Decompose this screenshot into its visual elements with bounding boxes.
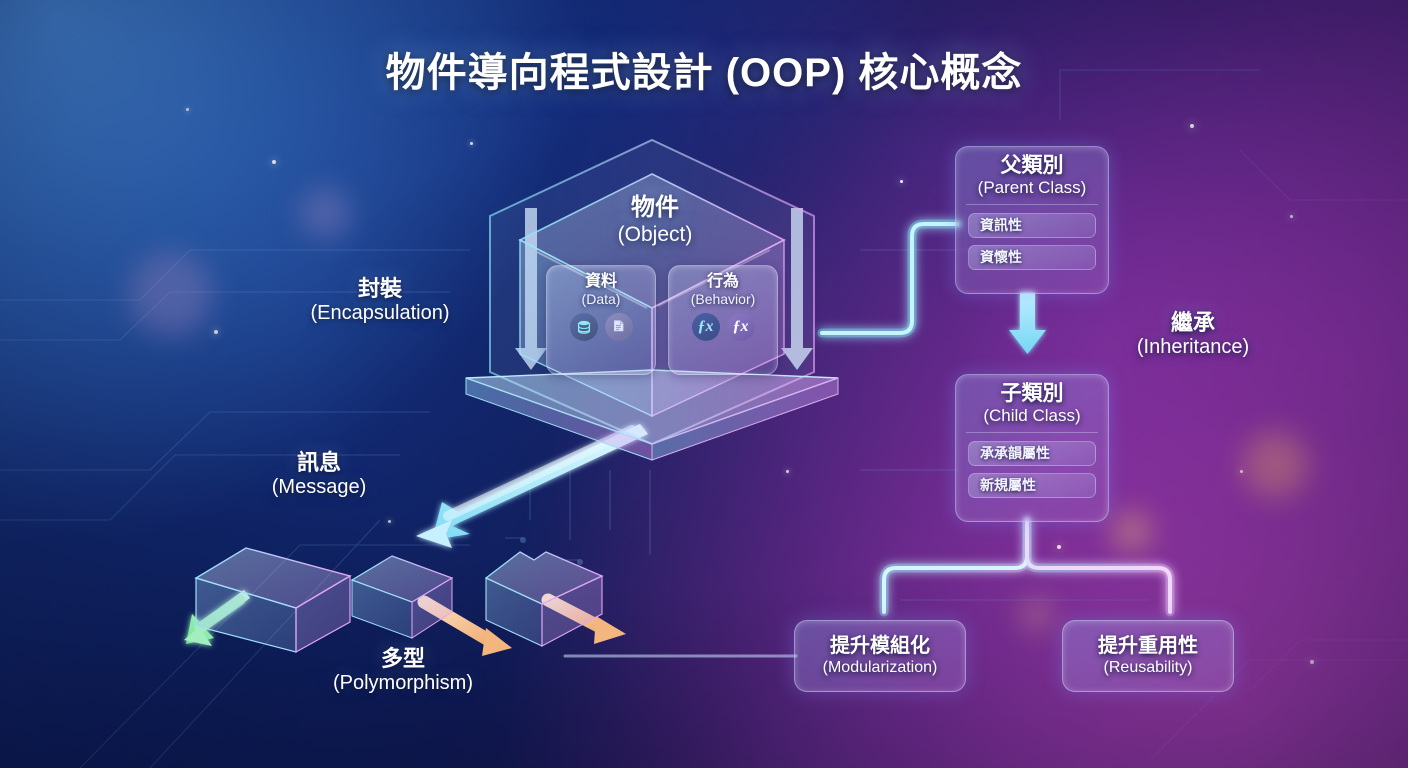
polymorphism-label: 多型 (Polymorphism) (300, 646, 506, 696)
parent-class-attribute-list: 資訊性 資懷性 (956, 205, 1108, 280)
inheritance-label-en: (Inheritance) (1108, 335, 1278, 359)
parent-class-header: 父類別 (Parent Class) (956, 147, 1108, 204)
fx-glyph: ƒx (733, 318, 749, 336)
object-node-title: 物件 (Object) (470, 194, 840, 247)
cube-base-slab (462, 360, 842, 470)
parent-class-card[interactable]: 父類別 (Parent Class) 資訊性 資懷性 (955, 146, 1109, 294)
behavior-panel-label-cn: 行為 (707, 273, 739, 291)
object-title-cn: 物件 (470, 194, 840, 222)
behavior-icon-group: ƒx ƒx (692, 313, 755, 341)
message-label: 訊息 (Message) (238, 450, 400, 500)
object-inner-panels: 資料 (Data) (546, 265, 778, 375)
encapsulation-label-en: (Encapsulation) (272, 301, 488, 325)
child-class-attribute-list: 承承韻屬性 新規屬性 (956, 433, 1108, 508)
infographic-canvas: 物件導向程式設計 (OOP) 核心概念 (0, 0, 1408, 768)
inheritance-label-cn: 繼承 (1108, 310, 1278, 335)
attribute-pill[interactable]: 新規屬性 (968, 473, 1096, 498)
polymorphism-label-cn: 多型 (300, 646, 506, 671)
child-class-header: 子類別 (Child Class) (956, 375, 1108, 432)
data-panel-label-en: (Data) (582, 291, 621, 308)
parent-class-title-cn: 父類別 (956, 154, 1108, 178)
page-title: 物件導向程式設計 (OOP) 核心概念 (0, 40, 1408, 98)
attribute-pill[interactable]: 資訊性 (968, 213, 1096, 238)
benefit-modularization-card[interactable]: 提升模組化 (Modularization) (794, 620, 966, 692)
child-class-card[interactable]: 子類別 (Child Class) 承承韻屬性 新規屬性 (955, 374, 1109, 522)
child-class-title-en: (Child Class) (956, 406, 1108, 426)
message-label-en: (Message) (238, 475, 400, 499)
data-icon-group (570, 313, 633, 341)
benefit-reusability-en: (Reusability) (1104, 658, 1193, 678)
document-icon (605, 313, 633, 341)
child-class-title-cn: 子類別 (956, 382, 1108, 406)
benefit-reusability-card[interactable]: 提升重用性 (Reusability) (1062, 620, 1234, 692)
inheritance-label: 繼承 (Inheritance) (1108, 310, 1278, 360)
function-fx-icon: ƒx (727, 313, 755, 341)
benefit-modularization-cn: 提升模組化 (830, 635, 930, 658)
data-panel-label-cn: 資料 (585, 273, 617, 291)
attribute-pill[interactable]: 承承韻屬性 (968, 441, 1096, 466)
data-panel[interactable]: 資料 (Data) (546, 265, 656, 375)
encapsulation-label-cn: 封裝 (272, 276, 488, 301)
function-fx-icon: ƒx (692, 313, 720, 341)
attribute-pill[interactable]: 資懷性 (968, 245, 1096, 270)
fx-glyph: ƒx (698, 318, 714, 336)
behavior-panel-label-en: (Behavior) (691, 291, 756, 308)
benefit-reusability-cn: 提升重用性 (1098, 635, 1198, 658)
polymorphism-label-en: (Polymorphism) (300, 671, 506, 695)
object-title-en: (Object) (470, 222, 840, 247)
message-label-cn: 訊息 (238, 450, 400, 475)
parent-class-title-en: (Parent Class) (956, 178, 1108, 198)
encapsulation-label: 封裝 (Encapsulation) (272, 276, 488, 326)
database-icon (570, 313, 598, 341)
benefit-modularization-en: (Modularization) (823, 658, 938, 678)
behavior-panel[interactable]: 行為 (Behavior) ƒx ƒx (668, 265, 778, 375)
